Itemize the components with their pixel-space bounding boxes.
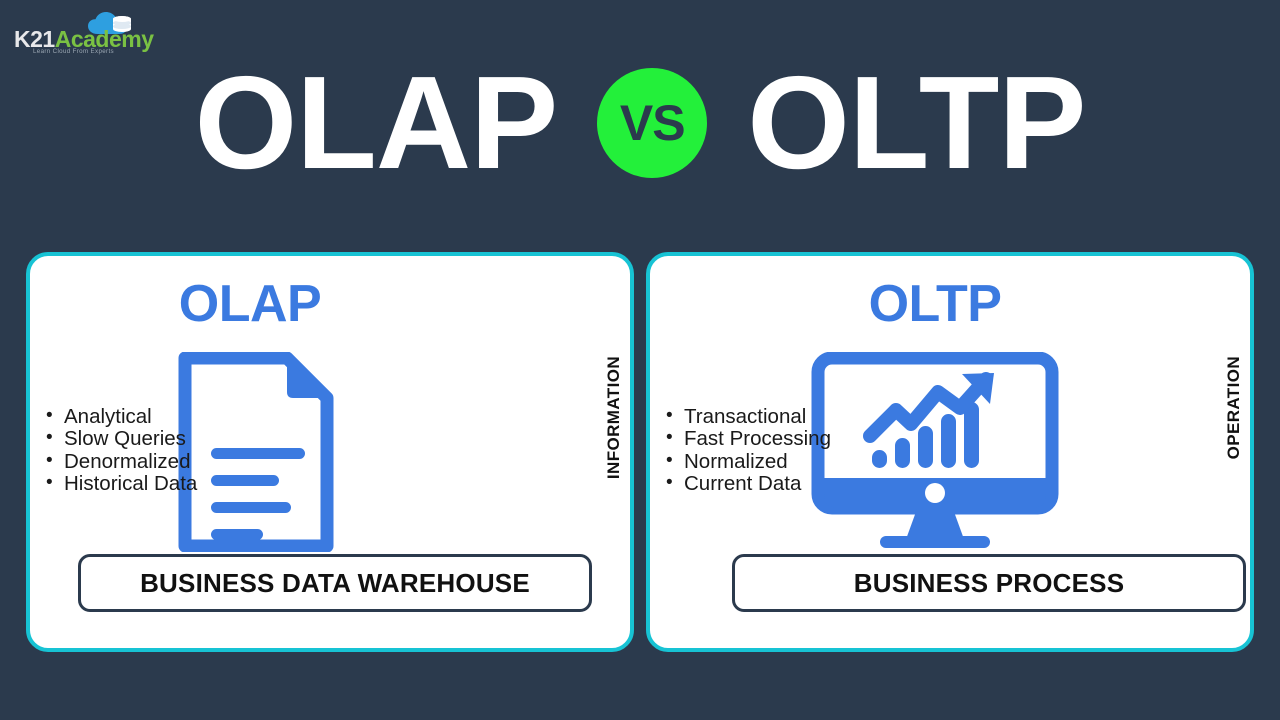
- card-oltp-bullets: Transactional Fast Processing Normalized…: [664, 406, 831, 495]
- card-oltp-side-label: OPERATION: [1224, 356, 1244, 459]
- versus-label: VS: [620, 98, 685, 148]
- list-item: Transactional: [664, 406, 831, 428]
- list-item: Normalized: [664, 451, 831, 473]
- card-olap[interactable]: OLAP Analytical Slow Queries Denormalize…: [26, 252, 634, 652]
- versus-badge: VS: [597, 68, 707, 178]
- card-oltp-footer-label: BUSINESS PROCESS: [854, 568, 1125, 599]
- card-oltp-heading: OLTP: [650, 278, 1250, 330]
- card-oltp[interactable]: OLTP Transactional Fast Processing Norma…: [646, 252, 1254, 652]
- card-olap-heading: OLAP: [30, 278, 630, 330]
- card-olap-footer-chip[interactable]: BUSINESS DATA WAREHOUSE: [78, 554, 592, 612]
- comparison-cards: OLAP Analytical Slow Queries Denormalize…: [26, 252, 1254, 652]
- list-item: Current Data: [664, 473, 831, 495]
- list-item: Slow Queries: [44, 428, 197, 450]
- list-item: Analytical: [44, 406, 197, 428]
- card-olap-side-label: INFORMATION: [604, 356, 624, 479]
- list-item: Fast Processing: [664, 428, 831, 450]
- page-title: OLAP VS OLTP: [0, 48, 1280, 198]
- card-olap-bullets: Analytical Slow Queries Denormalized His…: [44, 406, 197, 495]
- list-item: Denormalized: [44, 451, 197, 473]
- title-left-word: OLAP: [195, 57, 558, 189]
- title-right-word: OLTP: [747, 57, 1085, 189]
- card-olap-footer-label: BUSINESS DATA WAREHOUSE: [140, 568, 530, 599]
- list-item: Historical Data: [44, 473, 197, 495]
- card-oltp-footer-chip[interactable]: BUSINESS PROCESS: [732, 554, 1246, 612]
